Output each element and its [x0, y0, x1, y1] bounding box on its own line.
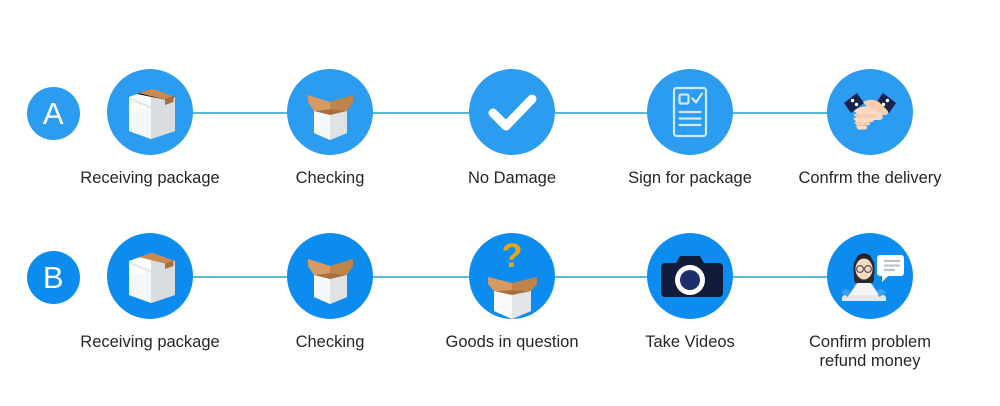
step-label: Goods in question: [422, 333, 602, 352]
open-box-icon: [287, 233, 373, 319]
support-agent-icon: [827, 233, 913, 319]
open-box-icon: [287, 69, 373, 155]
step-take-videos-b[interactable]: Take Videos: [600, 222, 780, 352]
step-checking-a[interactable]: Checking: [240, 58, 420, 188]
process-row-b: B Receiving package: [0, 222, 1000, 372]
step-icon-circle: ?: [469, 233, 555, 319]
process-row-a: A Receiving package: [0, 58, 1000, 208]
step-label: Checking: [240, 169, 420, 188]
step-no-damage-a[interactable]: No Damage: [422, 58, 602, 188]
step-label: Receiving package: [60, 333, 240, 352]
svg-text:?: ?: [502, 237, 523, 275]
question-box-icon: ?: [469, 233, 555, 319]
check-mark-icon: [469, 69, 555, 155]
step-confirm-delivery-a[interactable]: Confrm the delivery: [780, 58, 960, 188]
step-label: No Damage: [422, 169, 602, 188]
step-label: Take Videos: [600, 333, 780, 352]
step-icon-circle: [287, 69, 373, 155]
step-goods-in-question-b[interactable]: ? Goods in question: [422, 222, 602, 352]
step-icon-circle: [107, 69, 193, 155]
step-icon-circle: [469, 69, 555, 155]
step-icon-circle: [647, 69, 733, 155]
step-icon-circle: [107, 233, 193, 319]
camera-icon: [647, 233, 733, 319]
delivery-process-infographic: A Receiving package: [0, 0, 1000, 406]
closed-box-icon: [107, 233, 193, 319]
handshake-icon: [827, 69, 913, 155]
step-label: Checking: [240, 333, 420, 352]
step-label: Receiving package: [60, 169, 240, 188]
step-icon-circle: [827, 69, 913, 155]
step-receiving-package-a[interactable]: Receiving package: [60, 58, 240, 188]
step-icon-circle: [287, 233, 373, 319]
step-label: Confrm the delivery: [780, 169, 960, 188]
step-icon-circle: [647, 233, 733, 319]
closed-box-icon: [107, 69, 193, 155]
step-label: Confirm problem refund money: [780, 333, 960, 371]
step-confirm-problem-refund-b[interactable]: Confirm problem refund money: [780, 222, 960, 371]
step-label: Sign for package: [600, 169, 780, 188]
signed-document-icon: [647, 69, 733, 155]
step-sign-for-package-a[interactable]: Sign for package: [600, 58, 780, 188]
step-receiving-package-b[interactable]: Receiving package: [60, 222, 240, 352]
step-icon-circle: [827, 233, 913, 319]
step-checking-b[interactable]: Checking: [240, 222, 420, 352]
